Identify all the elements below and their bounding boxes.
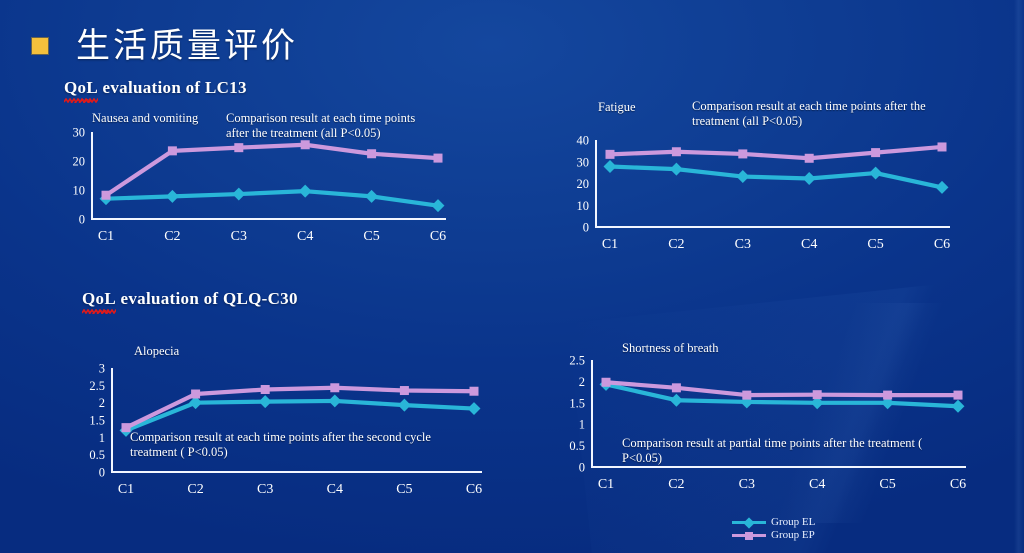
x-axis-tick-label: C6 xyxy=(934,237,950,252)
x-axis-tick-label: C4 xyxy=(809,477,825,492)
series-marker xyxy=(470,387,479,396)
series-line xyxy=(106,145,438,195)
y-axis-tick-label: 30 xyxy=(73,126,86,140)
series-marker xyxy=(869,167,882,180)
series-marker xyxy=(434,154,443,163)
series-marker xyxy=(102,191,111,200)
x-axis-tick-label: C3 xyxy=(257,482,273,497)
x-axis-tick-label: C5 xyxy=(867,237,883,252)
series-marker xyxy=(670,163,683,176)
x-axis-tick-label: C1 xyxy=(602,237,618,252)
x-axis-tick-label: C6 xyxy=(950,477,966,492)
series-marker xyxy=(365,190,378,203)
series-line xyxy=(606,382,958,395)
x-axis-tick-label: C2 xyxy=(668,237,684,252)
series-marker xyxy=(813,390,822,399)
series-marker xyxy=(261,385,270,394)
series-marker xyxy=(168,146,177,155)
series-marker xyxy=(602,378,611,387)
spellcheck-squiggle-icon xyxy=(82,309,116,314)
y-axis-tick-label: 2.5 xyxy=(89,379,105,393)
y-axis-tick-label: 2.5 xyxy=(569,354,585,368)
chart-fatigue-plot: 010203040C1C2C3C4C5C6 xyxy=(556,126,956,261)
slide-root: 生活质量评价 QoL evaluation of LC13 QoL evalua… xyxy=(0,0,1024,553)
series-marker xyxy=(954,391,963,400)
series-marker xyxy=(952,400,965,413)
y-axis-tick-label: 0.5 xyxy=(569,439,585,453)
y-axis-tick-label: 0.5 xyxy=(89,448,105,462)
y-axis-tick-label: 30 xyxy=(577,155,590,169)
chart-fatigue: 010203040C1C2C3C4C5C6 xyxy=(556,126,956,261)
chart-alopecia-title: Alopecia xyxy=(134,344,179,359)
series-marker xyxy=(301,140,310,149)
y-axis-tick-label: 2 xyxy=(579,375,585,389)
chart-fatigue-annotation: Comparison result at each time points af… xyxy=(692,99,936,129)
bullet-square-icon xyxy=(32,38,48,54)
y-axis-tick-label: 10 xyxy=(73,184,86,198)
series-marker xyxy=(805,154,814,163)
series-marker xyxy=(883,391,892,400)
x-axis-tick-label: C3 xyxy=(739,477,755,492)
series-marker xyxy=(936,181,949,194)
series-marker xyxy=(672,383,681,392)
series-marker xyxy=(736,170,749,183)
y-axis-tick-label: 0 xyxy=(99,466,105,480)
series-marker xyxy=(738,149,747,158)
series-marker xyxy=(871,148,880,157)
series-marker xyxy=(330,383,339,392)
series-marker xyxy=(606,150,615,159)
y-axis-tick-label: 20 xyxy=(577,177,590,191)
legend-swatch-group-el xyxy=(732,517,766,527)
spellcheck-squiggle-icon xyxy=(64,98,98,103)
series-marker xyxy=(670,394,683,407)
y-axis-tick-label: 2 xyxy=(99,396,105,410)
page-title: 生活质量评价 xyxy=(76,18,298,67)
series-marker xyxy=(232,188,245,201)
x-axis-tick-label: C3 xyxy=(231,229,247,244)
legend-label-group-ep: Group EP xyxy=(771,529,815,541)
legend-label-group-el: Group EL xyxy=(771,516,815,528)
x-axis-tick-label: C4 xyxy=(297,229,313,244)
series-marker xyxy=(938,142,947,151)
x-axis-tick-label: C5 xyxy=(363,229,379,244)
series-line xyxy=(610,147,942,158)
y-axis-tick-label: 1 xyxy=(579,418,585,432)
section-heading-qlqc30-misspelled-word: QoL xyxy=(82,289,116,309)
x-axis-tick-label: C1 xyxy=(118,482,134,497)
chart-shortness-of-breath-plot: 00.511.522.5C1C2C3C4C5C6 xyxy=(548,350,972,505)
y-axis-tick-label: 0 xyxy=(583,221,589,235)
section-heading-lc13-misspelled-word: QoL xyxy=(64,78,98,98)
x-axis-tick-label: C4 xyxy=(327,482,343,497)
legend-item-group-el: Group EL xyxy=(732,516,815,528)
background-edge-stripe xyxy=(1014,0,1024,553)
series-marker xyxy=(191,390,200,399)
series-marker xyxy=(672,147,681,156)
y-axis-tick-label: 1 xyxy=(99,431,105,445)
y-axis-tick-label: 40 xyxy=(577,134,590,148)
section-heading-lc13-rest: evaluation of LC13 xyxy=(98,78,247,97)
series-line xyxy=(106,191,438,206)
x-axis-tick-label: C6 xyxy=(430,229,446,244)
chart-shortness-of-breath-title: Shortness of breath xyxy=(622,341,719,356)
y-axis-tick-label: 3 xyxy=(99,362,105,376)
y-axis-tick-label: 0 xyxy=(579,461,585,475)
x-axis-tick-label: C2 xyxy=(187,482,203,497)
x-axis-tick-label: C6 xyxy=(466,482,482,497)
x-axis-tick-label: C4 xyxy=(801,237,817,252)
legend-item-group-ep: Group EP xyxy=(732,529,815,541)
x-axis-tick-label: C1 xyxy=(598,477,614,492)
y-axis-tick-label: 1.5 xyxy=(89,414,105,428)
section-heading-lc13: QoL evaluation of LC13 xyxy=(64,78,247,98)
chart-alopecia-annotation: Comparison result at each time points af… xyxy=(130,430,470,460)
x-axis-tick-label: C2 xyxy=(668,477,684,492)
series-line xyxy=(610,167,942,188)
series-marker xyxy=(299,185,312,198)
legend: Group EL Group EP xyxy=(732,516,815,541)
chart-fatigue-title: Fatigue xyxy=(598,100,636,115)
x-axis-tick-label: C5 xyxy=(879,477,895,492)
series-marker xyxy=(328,394,341,407)
series-marker xyxy=(367,149,376,158)
x-axis-tick-label: C3 xyxy=(735,237,751,252)
series-marker xyxy=(400,386,409,395)
legend-swatch-group-ep xyxy=(732,530,766,540)
y-axis-tick-label: 10 xyxy=(577,199,590,213)
chart-shortness-of-breath: 00.511.522.5C1C2C3C4C5C6 xyxy=(548,350,972,505)
y-axis-tick-label: 1.5 xyxy=(569,396,585,410)
series-marker xyxy=(259,395,272,408)
section-heading-qlqc30-rest: evaluation of QLQ-C30 xyxy=(116,289,298,308)
x-axis-tick-label: C1 xyxy=(98,229,114,244)
y-axis-tick-label: 0 xyxy=(79,213,85,227)
series-marker xyxy=(166,190,179,203)
series-marker xyxy=(468,402,481,415)
series-marker xyxy=(432,199,445,212)
chart-nausea-title: Nausea and vomiting xyxy=(92,111,198,126)
slide-title-row: 生活质量评价 xyxy=(32,18,298,67)
section-heading-qlqc30: QoL evaluation of QLQ-C30 xyxy=(82,289,298,309)
series-marker xyxy=(398,399,411,412)
series-marker xyxy=(234,143,243,152)
x-axis-tick-label: C2 xyxy=(164,229,180,244)
series-marker xyxy=(742,391,751,400)
series-line xyxy=(126,401,474,430)
chart-shortness-of-breath-annotation: Comparison result at partial time points… xyxy=(622,436,946,466)
series-marker xyxy=(803,172,816,185)
y-axis-tick-label: 20 xyxy=(73,155,86,169)
chart-nausea-annotation: Comparison result at each time points af… xyxy=(226,111,426,141)
x-axis-tick-label: C5 xyxy=(396,482,412,497)
series-marker xyxy=(604,160,617,173)
